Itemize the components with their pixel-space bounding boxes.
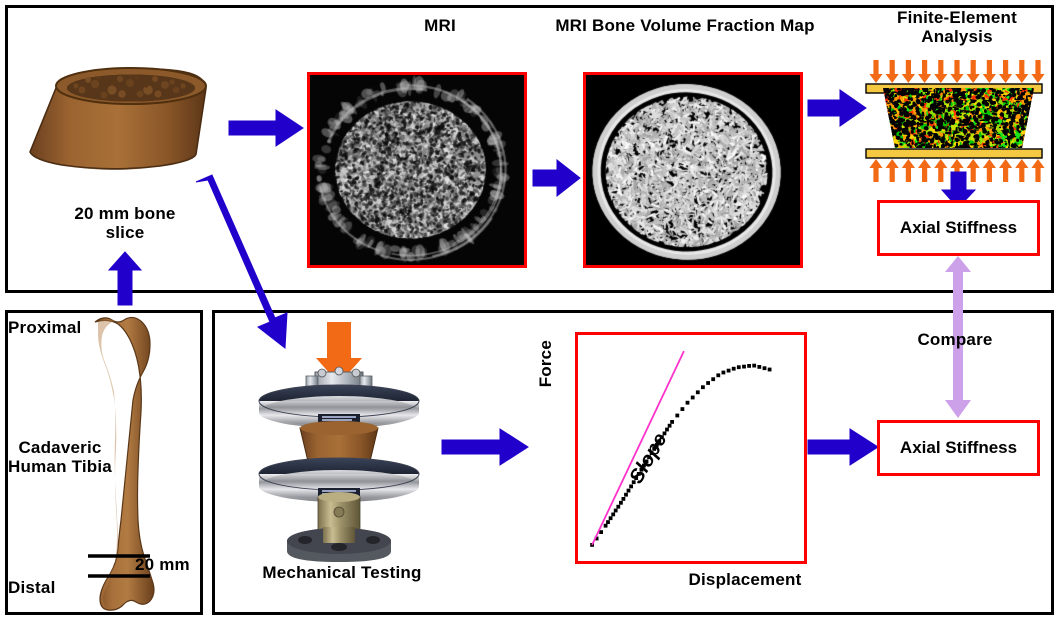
label-bone-volume-fraction-map: MRI Bone Volume Fraction Map: [540, 16, 830, 35]
label-bone-slice: 20 mm bone slice: [55, 204, 195, 242]
flow-arrow-slice-to-mri: [229, 110, 303, 146]
mechanical-testing-rig-illustration: [259, 322, 419, 562]
axial-stiffness-box-mechanical: Axial Stiffness: [877, 420, 1040, 476]
label-compare: Compare: [880, 330, 1030, 349]
flow-arrow-tibia-to-slice: [109, 252, 141, 305]
label-mechanical-testing: Mechanical Testing: [262, 563, 422, 582]
fea-bottom-platen: [866, 149, 1042, 158]
axis-label-displacement: Displacement: [640, 570, 850, 589]
flow-arrow-bvf-to-fea: [808, 90, 866, 126]
diagram-artwork: [0, 0, 1059, 620]
flow-arrow-slice-to-mechanical-testing: [196, 175, 287, 348]
label-finite-element-analysis: Finite-Element Analysis: [862, 8, 1052, 46]
label-twenty-mm: 20 mm: [135, 555, 207, 574]
axis-label-force: Force: [536, 340, 558, 387]
label-cadaveric-human-tibia: Cadaveric Human Tibia: [5, 438, 115, 476]
finite-element-model-illustration: [866, 60, 1045, 182]
figure-root: Slope: [0, 0, 1059, 620]
label-proximal: Proximal: [8, 318, 113, 337]
flow-arrow-plot-to-stiffness: [808, 429, 878, 465]
flow-arrow-mri-to-bvf: [533, 160, 580, 196]
axial-stiffness-box-fea: Axial Stiffness: [877, 200, 1040, 256]
label-mri: MRI: [360, 16, 520, 35]
fea-load-arrows-down-icon: [869, 60, 1044, 83]
bone-slice-illustration: [30, 68, 206, 170]
flow-arrow-mech-to-plot: [442, 429, 528, 465]
label-distal: Distal: [8, 578, 98, 597]
